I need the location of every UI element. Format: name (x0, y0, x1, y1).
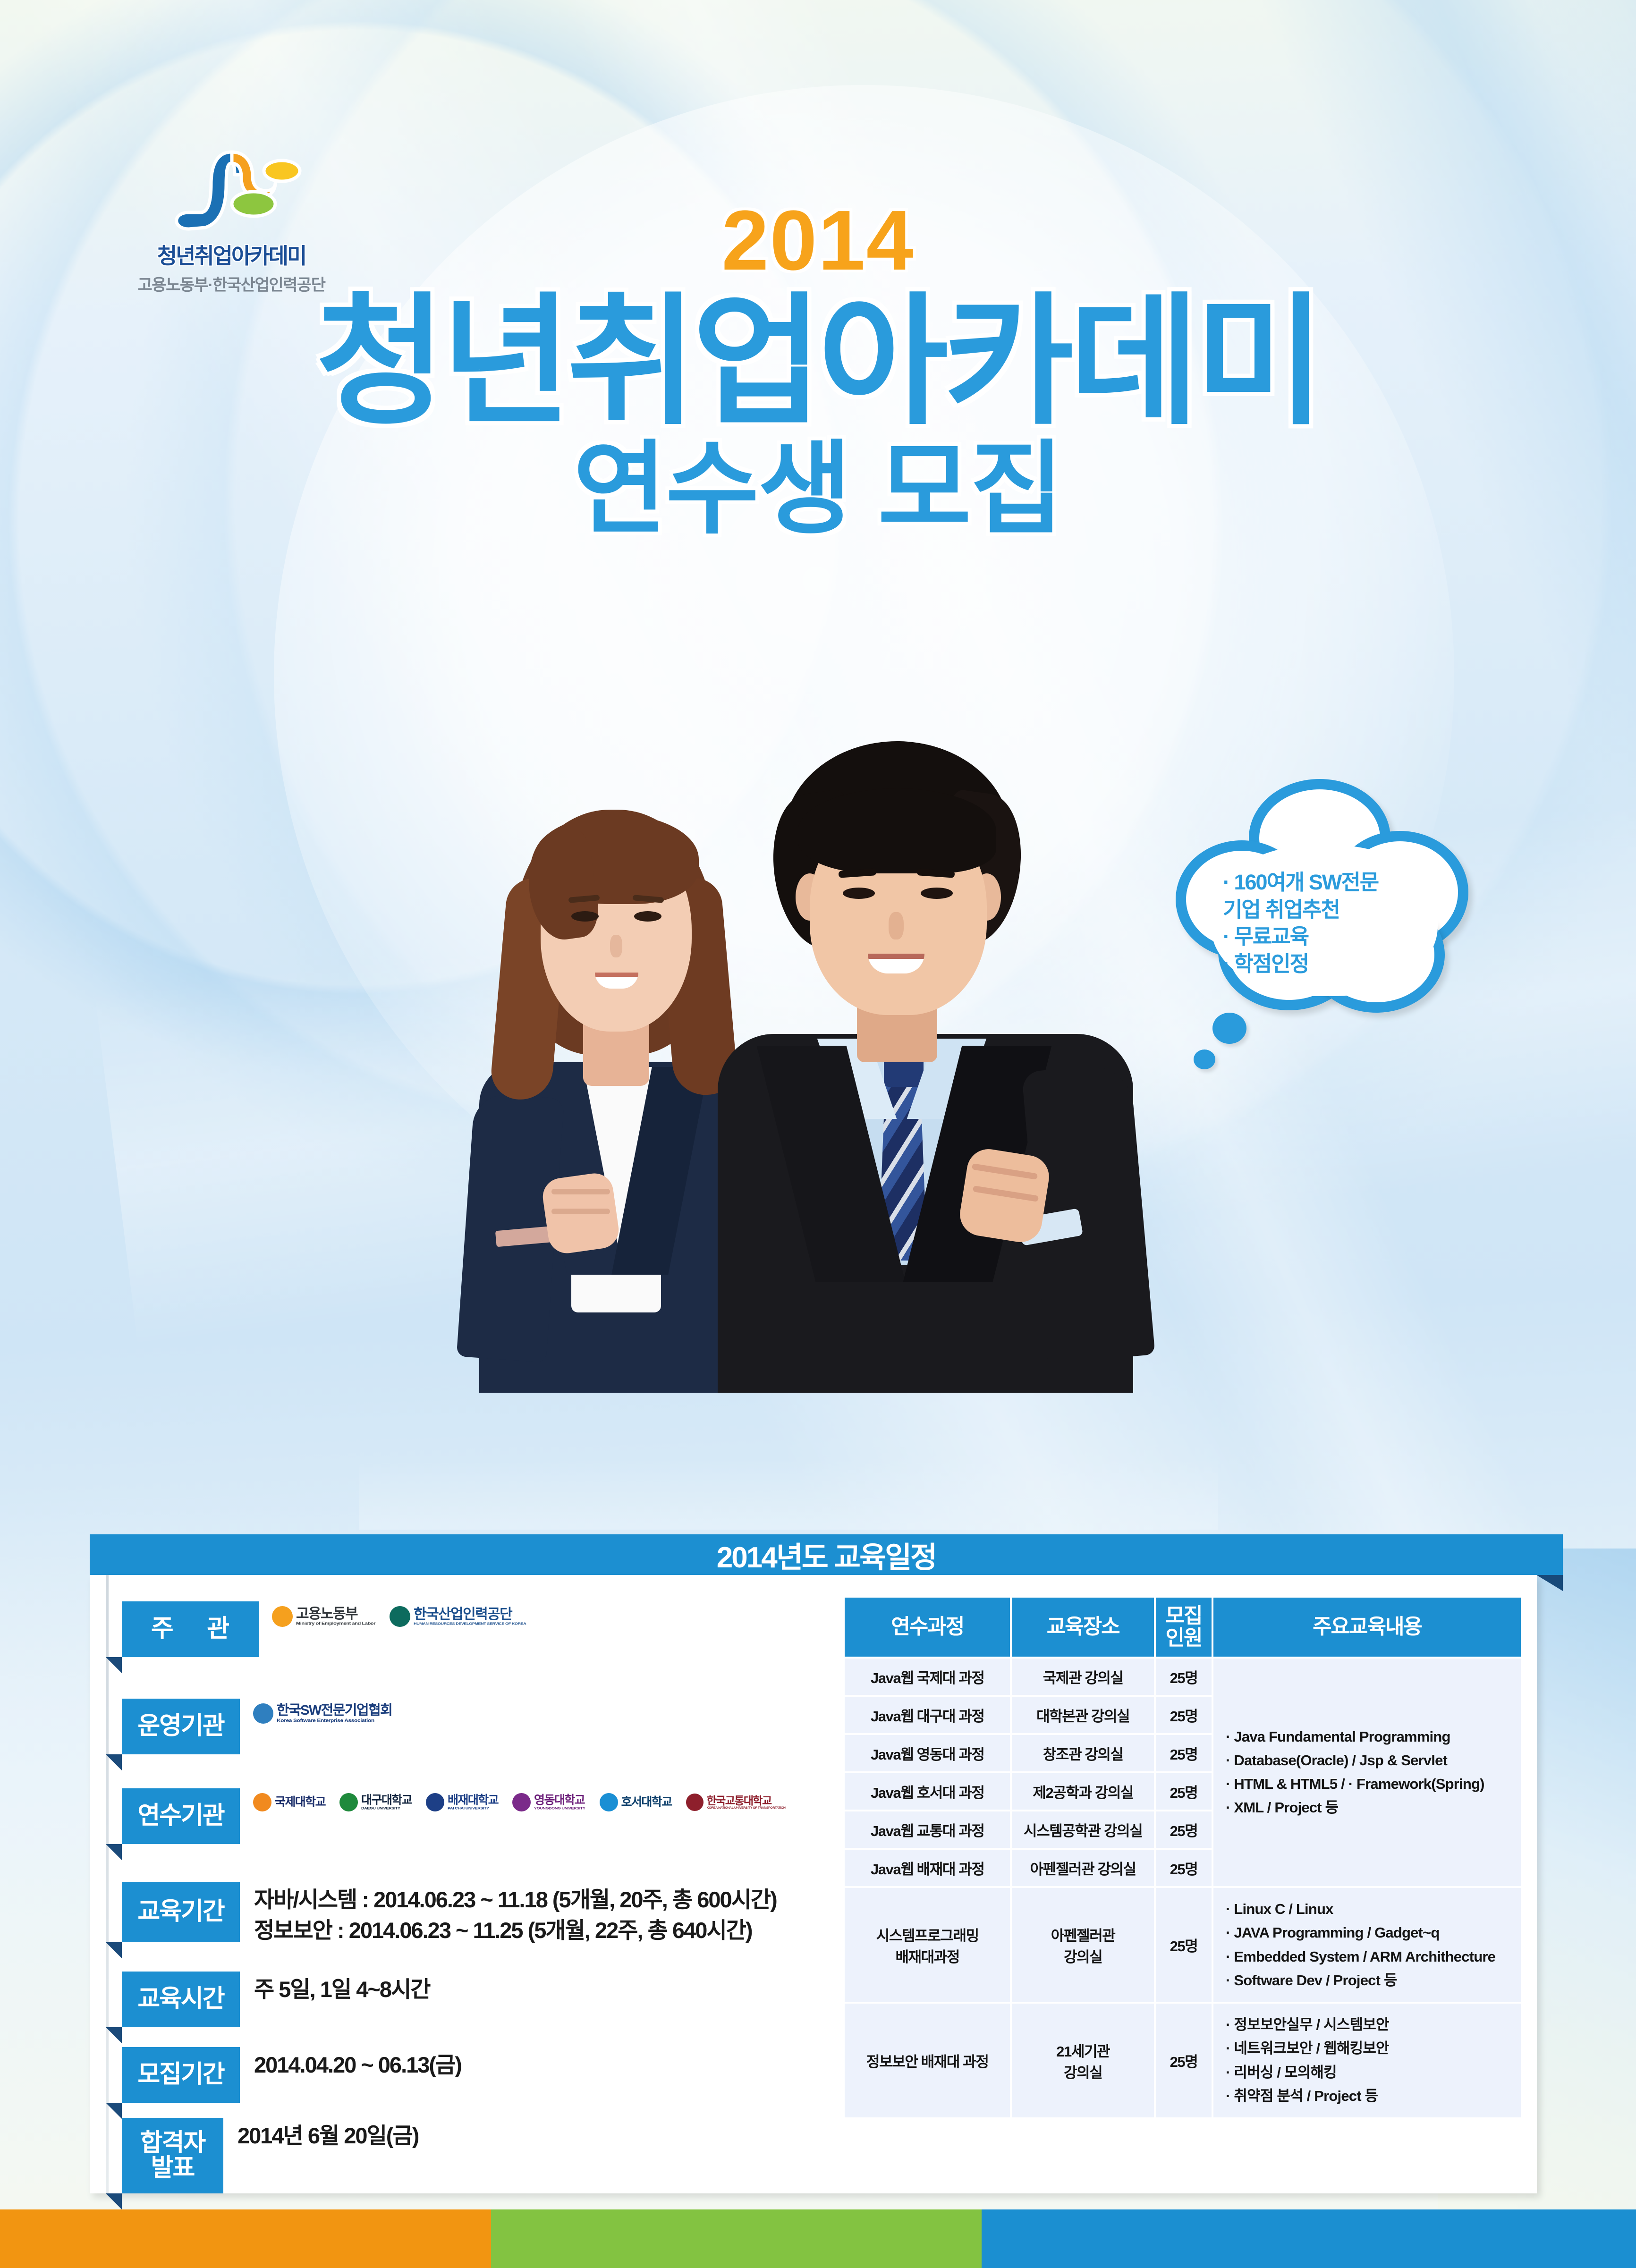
schedule-panel: 주 관고용노동부Ministry of Employment and Labor… (90, 1575, 1537, 2193)
headline-year: 2014 (0, 198, 1636, 283)
info-logo-row-2: 한국SW전문기업협회Korea Software Enterprise Asso… (240, 1699, 392, 1724)
info-row-2: 운영기관한국SW전문기업협회Korea Software Enterprise … (122, 1699, 392, 1754)
org-name-en: YOUNGDONG UNIVERSITY (534, 1806, 585, 1810)
cell-place: 제2공학과 강의실 (1012, 1773, 1153, 1810)
org-logo-text: 국제대학교 (275, 1796, 325, 1808)
table-header-4: 주요교육내용 (1213, 1598, 1521, 1657)
cell-course: Java웹 국제대 과정 (845, 1659, 1010, 1695)
bubble-tail-small (1194, 1049, 1215, 1069)
woman-eye-right (634, 911, 661, 922)
cell-course: Java웹 배재대 과정 (845, 1850, 1010, 1886)
org-name-en: HUMAN RESOURCES DEVELOPMENT SERVICE OF K… (414, 1622, 526, 1625)
info-label-tab-7: 합격자발표 (122, 2118, 223, 2193)
info-label-tab-1: 주 관 (122, 1601, 259, 1657)
info-label-text: 교육기간 (137, 1899, 224, 1924)
info-value-6: 2014.04.20 ~ 06.13(금) (240, 2047, 461, 2081)
info-value-7: 2014년 6월 20일(금) (223, 2118, 418, 2151)
cell-curriculum-2: · Linux C / Linux· JAVA Programming / Ga… (1213, 1888, 1521, 2002)
org-logo-국제대학교: 국제대학교 (253, 1793, 325, 1811)
org-logo-영동대학교: 영동대학교YOUNGDONG UNIVERSITY (512, 1793, 585, 1811)
info-label-text: 연수기관 (137, 1803, 224, 1828)
info-label-text: 합격자발표 (140, 2131, 205, 2181)
org-name-ko: 한국교통대학교 (707, 1795, 786, 1806)
org-logo-한국교통대학교: 한국교통대학교KOREA NATIONAL UNIVERSITY OF TRAN… (686, 1794, 786, 1811)
man-nose (889, 912, 904, 939)
org-logo-text: 고용노동부Ministry of Employment and Labor (296, 1607, 375, 1626)
course-table: 연수과정교육장소모집인원주요교육내용 Java웹 국제대 과정국제관 강의실25… (843, 1596, 1523, 2119)
org-name-ko: 고용노동부 (296, 1607, 375, 1621)
org-name-ko: 국제대학교 (275, 1796, 325, 1808)
course-table-body: Java웹 국제대 과정국제관 강의실25명· Java Fundamental… (845, 1659, 1521, 2117)
course-table-head: 연수과정교육장소모집인원주요교육내용 (845, 1598, 1521, 1657)
org-name-ko: 영동대학교 (534, 1794, 585, 1806)
bubble-benefits-text: · 160여개 SW전문기업 취업추천· 무료교육· 학점인정 (1223, 869, 1445, 977)
info-label-tab-3: 연수기관 (122, 1788, 240, 1844)
org-emblem-icon (253, 1793, 271, 1811)
cell-place: 시스템공학관 강의실 (1012, 1811, 1153, 1848)
bubble-tail-large (1212, 1013, 1246, 1044)
poster-root: 청년취업아카데미 고용노동부·한국산업인력공단 2014 청년취업아카데미 연수… (0, 0, 1636, 2268)
info-label-text: 교육시간 (137, 1987, 224, 2012)
strip-blue (982, 2209, 1636, 2268)
table-row: 시스템프로그래밍배재대과정아펜젤러관강의실25명· Linux C / Linu… (845, 1888, 1521, 2002)
org-logo-text: 한국교통대학교KOREA NATIONAL UNIVERSITY OF TRAN… (707, 1795, 786, 1810)
info-label-tab-5: 교육시간 (122, 1972, 240, 2027)
org-name-en: PAI CHAI UNIVERSITY (448, 1806, 498, 1810)
org-logo-한국산업인력공단: 한국산업인력공단HUMAN RESOURCES DEVELOPMENT SERV… (390, 1606, 526, 1627)
info-row-6: 모집기간2014.04.20 ~ 06.13(금) (122, 2047, 461, 2103)
info-row-3: 연수기관국제대학교대구대학교DAEGU UNIVERSITY배재대학교PAI C… (122, 1788, 786, 1844)
org-emblem-icon (686, 1794, 704, 1811)
org-name-ko: 호서대학교 (621, 1796, 672, 1808)
info-label-tab-6: 모집기간 (122, 2047, 240, 2103)
info-list: 주 관고용노동부Ministry of Employment and Labor… (90, 1575, 831, 2193)
woman-fist-knuckle-2 (551, 1209, 610, 1214)
info-row-5: 교육시간주 5일, 1일 4~8시간 (122, 1972, 430, 2027)
students-photo (359, 736, 1218, 1530)
course-table-wrap: 연수과정교육장소모집인원주요교육내용 Java웹 국제대 과정국제관 강의실25… (843, 1596, 1523, 2119)
info-label-text: 주 관 (138, 1616, 243, 1642)
info-logo-row-1: 고용노동부Ministry of Employment and Labor한국산… (259, 1601, 526, 1627)
photo-bottom-fade (359, 1459, 1218, 1530)
info-row-7: 합격자발표2014년 6월 20일(금) (122, 2118, 418, 2193)
course-table-header-row: 연수과정교육장소모집인원주요교육내용 (845, 1598, 1521, 1657)
cell-course: Java웹 대구대 과정 (845, 1697, 1010, 1733)
org-emblem-icon (512, 1793, 531, 1811)
info-label-tab-2: 운영기관 (122, 1699, 240, 1754)
cell-cap: 25명 (1156, 1850, 1212, 1886)
org-logo-고용노동부: 고용노동부Ministry of Employment and Labor (272, 1606, 375, 1627)
schedule-banner: 2014년도 교육일정 (90, 1534, 1563, 1575)
strip-green (491, 2209, 982, 2268)
org-name-ko: 한국산업인력공단 (414, 1608, 526, 1622)
table-header-3: 모집인원 (1156, 1598, 1212, 1657)
cell-place: 대학본관 강의실 (1012, 1697, 1153, 1733)
man-fringe (798, 788, 996, 873)
org-name-ko: 배재대학교 (448, 1794, 498, 1806)
info-label-tab-4: 교육기간 (122, 1882, 240, 1942)
cell-cap: 25명 (1156, 1735, 1212, 1771)
info-spine-line (106, 1575, 109, 2193)
headline-main: 청년취업아카데미 (0, 285, 1636, 438)
org-logo-대구대학교: 대구대학교DAEGU UNIVERSITY (339, 1793, 412, 1811)
info-value-4: 자바/시스템 : 2014.06.23 ~ 11.18 (5개월, 20주, 총… (240, 1882, 777, 1946)
schedule-banner-title: 2014년도 교육일정 (717, 1533, 936, 1576)
cell-place: 아펜젤러관강의실 (1012, 1888, 1153, 2002)
info-logo-row-3: 국제대학교대구대학교DAEGU UNIVERSITY배재대학교PAI CHAI … (240, 1788, 786, 1811)
cell-curriculum-1: · Java Fundamental Programming· Database… (1213, 1659, 1521, 1886)
headline-subtitle: 연수생 모집 (0, 433, 1636, 545)
org-emblem-icon (390, 1606, 410, 1627)
cell-curriculum-3: · 정보보안실무 / 시스템보안· 네트워크보안 / 웹해킹보안· 리버싱 / … (1213, 2004, 1521, 2117)
cell-cap: 25명 (1156, 1697, 1212, 1733)
cell-cap: 25명 (1156, 1773, 1212, 1810)
org-emblem-icon (426, 1793, 444, 1811)
cell-place: 창조관 강의실 (1012, 1735, 1153, 1771)
org-logo-text: 배재대학교PAI CHAI UNIVERSITY (448, 1794, 498, 1811)
benefits-thought-bubble: · 160여개 SW전문기업 취업추천· 무료교육· 학점인정 (1166, 774, 1487, 1039)
org-logo-한국SW전문기업협회: 한국SW전문기업협회Korea Software Enterprise Asso… (253, 1703, 392, 1724)
poster-headline: 2014 청년취업아카데미 연수생 모집 (0, 198, 1636, 545)
org-logo-text: 대구대학교DAEGU UNIVERSITY (361, 1794, 412, 1811)
strip-orange (0, 2209, 491, 2268)
info-row-4: 교육기간자바/시스템 : 2014.06.23 ~ 11.18 (5개월, 20… (122, 1882, 777, 1946)
man-eye-left (843, 888, 875, 899)
org-name-en: KOREA NATIONAL UNIVERSITY OF TRANSPORTAT… (707, 1806, 786, 1809)
info-label-text: 모집기간 (137, 2062, 224, 2087)
cell-place: 21세기관강의실 (1012, 2004, 1153, 2117)
cell-place: 아펜젤러관 강의실 (1012, 1850, 1153, 1886)
cell-cap: 25명 (1156, 1659, 1212, 1695)
org-name-ko: 한국SW전문기업협회 (277, 1704, 392, 1718)
cell-cap: 25명 (1156, 2004, 1212, 2117)
table-header-1: 연수과정 (845, 1598, 1010, 1657)
org-logo-text: 한국산업인력공단HUMAN RESOURCES DEVELOPMENT SERV… (414, 1608, 526, 1626)
bottom-color-strip (0, 2209, 1636, 2268)
info-row-1: 주 관고용노동부Ministry of Employment and Labor… (122, 1601, 526, 1657)
org-emblem-icon (600, 1793, 618, 1811)
org-emblem-icon (339, 1793, 358, 1811)
org-name-en: Korea Software Enterprise Association (277, 1718, 392, 1723)
table-row: Java웹 국제대 과정국제관 강의실25명· Java Fundamental… (845, 1659, 1521, 1695)
org-emblem-icon (272, 1606, 293, 1627)
org-logo-text: 영동대학교YOUNGDONG UNIVERSITY (534, 1794, 585, 1811)
cell-cap: 25명 (1156, 1811, 1212, 1848)
cell-course: 정보보안 배재대 과정 (845, 2004, 1010, 2117)
org-logo-호서대학교: 호서대학교 (600, 1793, 672, 1811)
cell-course: Java웹 영동대 과정 (845, 1735, 1010, 1771)
cell-course: Java웹 교통대 과정 (845, 1811, 1010, 1848)
woman-nose (610, 935, 622, 957)
woman-fist-knuckle-1 (551, 1189, 610, 1194)
table-header-2: 교육장소 (1012, 1598, 1153, 1657)
org-name-en: Ministry of Employment and Labor (296, 1621, 375, 1625)
info-value-5: 주 5일, 1일 4~8시간 (240, 1972, 430, 2005)
org-name-ko: 대구대학교 (361, 1794, 412, 1806)
info-label-text: 운영기관 (137, 1714, 224, 1739)
cell-course: 시스템프로그래밍배재대과정 (845, 1888, 1010, 2002)
org-logo-text: 호서대학교 (621, 1796, 672, 1808)
man-eye-right (921, 888, 953, 899)
table-row: 정보보안 배재대 과정21세기관강의실25명· 정보보안실무 / 시스템보안· … (845, 2004, 1521, 2117)
woman-eye-left (571, 911, 599, 922)
cell-place: 국제관 강의실 (1012, 1659, 1153, 1695)
org-name-en: DAEGU UNIVERSITY (361, 1806, 412, 1810)
org-logo-배재대학교: 배재대학교PAI CHAI UNIVERSITY (426, 1793, 498, 1811)
org-emblem-icon (253, 1703, 273, 1724)
cell-cap: 25명 (1156, 1888, 1212, 2002)
cell-course: Java웹 호서대 과정 (845, 1773, 1010, 1810)
org-logo-text: 한국SW전문기업협회Korea Software Enterprise Asso… (277, 1704, 392, 1723)
